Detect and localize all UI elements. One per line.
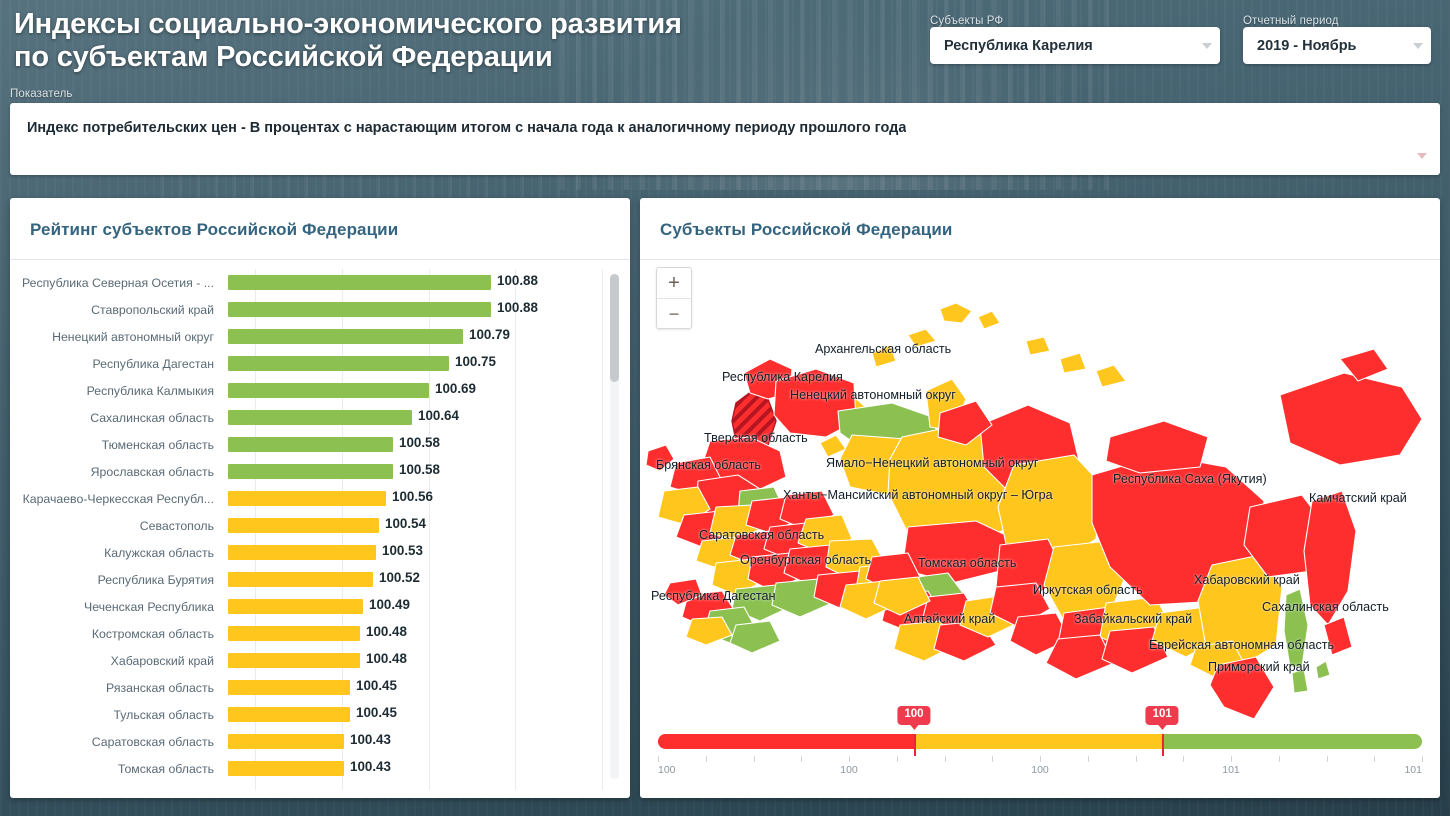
- bar-row[interactable]: Республика Северная Осетия - ...100.88: [10, 269, 630, 296]
- rating-scrollbar-thumb[interactable]: [610, 274, 619, 382]
- chevron-down-icon[interactable]: [1413, 43, 1423, 49]
- bar-fill[interactable]: [228, 302, 491, 317]
- bar-row[interactable]: Сахалинская область100.64: [10, 404, 630, 431]
- bar-fill[interactable]: [228, 356, 449, 371]
- bar-label: Ненецкий автономный округ: [10, 330, 228, 344]
- legend-ticks: [658, 756, 1422, 764]
- map-color-legend[interactable]: 100101 100100100101101: [658, 700, 1422, 778]
- bar-track: 100.58: [228, 431, 630, 458]
- map-zoom-controls[interactable]: + −: [656, 267, 692, 329]
- bar-track: 100.64: [228, 404, 630, 431]
- chevron-down-icon[interactable]: [1202, 43, 1212, 49]
- bar-value: 100.49: [369, 597, 410, 612]
- indicator-filter-label: Показатель: [10, 88, 1440, 100]
- legend-tick: [1279, 756, 1280, 762]
- bar-row[interactable]: Костромская область100.48: [10, 620, 630, 647]
- bar-fill[interactable]: [228, 572, 373, 587]
- page-title: Индексы социально-экономического развити…: [14, 8, 682, 74]
- bar-value: 100.45: [356, 678, 397, 693]
- subject-filter[interactable]: Субъекты РФ Республика Карелия: [930, 15, 1220, 64]
- bar-label: Калужская область: [10, 546, 228, 560]
- bar-row[interactable]: Рязанская область100.45: [10, 674, 630, 701]
- bar-row[interactable]: Тюменская область100.58: [10, 431, 630, 458]
- bar-label: Ярославская область: [10, 465, 228, 479]
- rating-scrollbar[interactable]: [610, 274, 619, 779]
- bar-track: 100.43: [228, 728, 630, 755]
- rating-panel-title: Рейтинг субъектов Российской Федерации: [10, 198, 630, 240]
- map-panel: Субъекты Российской Федерации + −: [640, 198, 1440, 798]
- bar-fill[interactable]: [228, 680, 350, 695]
- legend-tick: [706, 756, 707, 762]
- bar-label: Саратовская область: [10, 735, 228, 749]
- bar-rows: Республика Северная Осетия - ...100.88Ст…: [10, 269, 630, 782]
- bar-fill[interactable]: [228, 491, 386, 506]
- bar-fill[interactable]: [228, 761, 344, 776]
- legend-tick: [1183, 756, 1184, 762]
- bar-row[interactable]: Ненецкий автономный округ100.79: [10, 323, 630, 350]
- legend-tick: [658, 756, 659, 762]
- bar-label: Костромская область: [10, 627, 228, 641]
- bar-row[interactable]: Карачаево-Черкесская Республ...100.56: [10, 485, 630, 512]
- legend-handle-value[interactable]: 101: [1146, 706, 1179, 725]
- bar-fill[interactable]: [228, 383, 429, 398]
- bar-track: 100.48: [228, 620, 630, 647]
- bar-track: 100.69: [228, 377, 630, 404]
- bar-row[interactable]: Тульская область100.45: [10, 701, 630, 728]
- legend-tick: [754, 756, 755, 762]
- bar-value: 100.58: [399, 435, 440, 450]
- legend-tick: [1040, 756, 1041, 762]
- bar-fill[interactable]: [228, 275, 491, 290]
- bar-fill[interactable]: [228, 653, 360, 668]
- legend-tick: [1088, 756, 1089, 762]
- bar-row[interactable]: Республика Дагестан100.75: [10, 350, 630, 377]
- period-filter[interactable]: Отчетный период 2019 - Ноябрь: [1243, 15, 1431, 64]
- bar-track: 100.56: [228, 485, 630, 512]
- legend-axis-label: 100: [1031, 764, 1049, 776]
- bar-row[interactable]: Ставропольский край100.88: [10, 296, 630, 323]
- period-select-box[interactable]: 2019 - Ноябрь: [1243, 27, 1431, 64]
- bar-label: Чеченская Республика: [10, 600, 228, 614]
- subject-select-value: Республика Карелия: [944, 38, 1194, 54]
- legend-segment: [658, 734, 914, 749]
- zoom-in-icon[interactable]: +: [657, 268, 691, 298]
- bar-row[interactable]: Томская область100.43: [10, 755, 630, 782]
- bar-fill[interactable]: [228, 329, 463, 344]
- bar-label: Республика Калмыкия: [10, 384, 228, 398]
- bar-value: 100.79: [469, 327, 510, 342]
- bar-fill[interactable]: [228, 410, 412, 425]
- legend-tick: [849, 756, 850, 762]
- bar-fill[interactable]: [228, 734, 344, 749]
- bar-track: 100.45: [228, 674, 630, 701]
- indicator-select-box[interactable]: Индекс потребительских цен - В процентах…: [10, 103, 1440, 175]
- bar-value: 100.88: [497, 273, 538, 288]
- bar-track: 100.88: [228, 269, 630, 296]
- page-title-line-2: по субъектам Российской Федерации: [14, 41, 682, 74]
- zoom-out-icon[interactable]: −: [657, 298, 691, 328]
- bar-fill[interactable]: [228, 626, 360, 641]
- bar-label: Томская область: [10, 762, 228, 776]
- bar-label: Республика Дагестан: [10, 357, 228, 371]
- legend-tick: [1136, 756, 1137, 762]
- bar-label: Ставропольский край: [10, 303, 228, 317]
- legend-tick: [897, 756, 898, 762]
- indicator-select-value: Индекс потребительских цен - В процентах…: [27, 120, 906, 136]
- legend-tick: [801, 756, 802, 762]
- bar-value: 100.58: [399, 462, 440, 477]
- bar-fill[interactable]: [228, 707, 350, 722]
- indicator-filter[interactable]: Показатель Индекс потребительских цен - …: [10, 88, 1440, 175]
- bar-label: Сахалинская область: [10, 411, 228, 425]
- bar-value: 100.45: [356, 705, 397, 720]
- bar-value: 100.75: [455, 354, 496, 369]
- bar-track: 100.58: [228, 458, 630, 485]
- legend-handle[interactable]: [914, 734, 916, 756]
- bar-row[interactable]: Хабаровский край100.48: [10, 647, 630, 674]
- map-panel-title: Субъекты Российской Федерации: [640, 198, 1440, 240]
- bar-fill[interactable]: [228, 464, 393, 479]
- page-title-line-1: Индексы социально-экономического развити…: [14, 8, 682, 40]
- legend-axis-label: 100: [658, 764, 676, 776]
- dashboard-header: Индексы социально-экономического развити…: [0, 0, 1450, 186]
- bar-label: Хабаровский край: [10, 654, 228, 668]
- subject-select-box[interactable]: Республика Карелия: [930, 27, 1220, 64]
- bar-value: 100.43: [350, 732, 391, 747]
- rating-panel: Рейтинг субъектов Российской Федерации Р…: [10, 198, 630, 798]
- bar-row[interactable]: Севастополь100.54: [10, 512, 630, 539]
- chevron-down-icon[interactable]: [1417, 153, 1427, 159]
- subject-filter-label: Субъекты РФ: [930, 15, 1220, 27]
- bar-value: 100.69: [435, 381, 476, 396]
- bar-label: Рязанская область: [10, 681, 228, 695]
- bar-track: 100.79: [228, 323, 630, 350]
- bar-track: 100.52: [228, 566, 630, 593]
- bar-track: 100.48: [228, 647, 630, 674]
- legend-tick: [1374, 756, 1375, 762]
- bar-track: 100.43: [228, 755, 630, 782]
- bar-value: 100.56: [392, 489, 433, 504]
- legend-gradient-bar: [658, 734, 1422, 749]
- bar-fill[interactable]: [228, 518, 379, 533]
- legend-tick: [992, 756, 993, 762]
- bar-row[interactable]: Калужская область100.53: [10, 539, 630, 566]
- bar-label: Карачаево-Черкесская Республ...: [10, 492, 228, 506]
- bar-track: 100.45: [228, 701, 630, 728]
- bar-label: Тюменская область: [10, 438, 228, 452]
- bar-track: 100.54: [228, 512, 630, 539]
- bar-row[interactable]: Республика Калмыкия100.69: [10, 377, 630, 404]
- legend-tick: [1327, 756, 1328, 762]
- legend-axis-label: 101: [1404, 764, 1422, 776]
- bar-row[interactable]: Ярославская область100.58: [10, 458, 630, 485]
- bar-fill[interactable]: [228, 545, 376, 560]
- bar-value: 100.53: [382, 543, 423, 558]
- legend-axis-label: 100: [840, 764, 858, 776]
- legend-segment: [914, 734, 1162, 749]
- bar-value: 100.64: [418, 408, 459, 423]
- period-select-value: 2019 - Ноябрь: [1257, 38, 1405, 54]
- bar-fill[interactable]: [228, 437, 393, 452]
- bar-row[interactable]: Чеченская Республика100.49: [10, 593, 630, 620]
- bar-fill[interactable]: [228, 599, 363, 614]
- legend-handle[interactable]: [1162, 734, 1164, 756]
- bar-label: Тульская область: [10, 708, 228, 722]
- rating-bar-chart: Республика Северная Осетия - ...100.88Ст…: [10, 260, 630, 790]
- bar-value: 100.48: [366, 624, 407, 639]
- legend-tick: [945, 756, 946, 762]
- legend-tick: [1231, 756, 1232, 762]
- bar-row[interactable]: Республика Бурятия100.52: [10, 566, 630, 593]
- bar-label: Республика Бурятия: [10, 573, 228, 587]
- period-filter-label: Отчетный период: [1243, 15, 1431, 27]
- legend-axis-label: 101: [1222, 764, 1240, 776]
- bar-row[interactable]: Саратовская область100.43: [10, 728, 630, 755]
- russia-choropleth-map[interactable]: + −: [640, 260, 1440, 790]
- legend-segment: [1162, 734, 1422, 749]
- legend-handle-value[interactable]: 100: [897, 706, 930, 725]
- bar-track: 100.88: [228, 296, 630, 323]
- bar-label: Севастополь: [10, 519, 228, 533]
- bar-track: 100.49: [228, 593, 630, 620]
- bar-value: 100.88: [497, 300, 538, 315]
- bar-track: 100.75: [228, 350, 630, 377]
- bar-label: Республика Северная Осетия - ...: [10, 276, 228, 290]
- legend-tick: [1422, 756, 1423, 762]
- legend-axis-labels: 100100100101101: [658, 764, 1422, 778]
- bar-track: 100.53: [228, 539, 630, 566]
- bar-value: 100.48: [366, 651, 407, 666]
- bar-value: 100.43: [350, 759, 391, 774]
- bar-value: 100.54: [385, 516, 426, 531]
- bar-value: 100.52: [379, 570, 420, 585]
